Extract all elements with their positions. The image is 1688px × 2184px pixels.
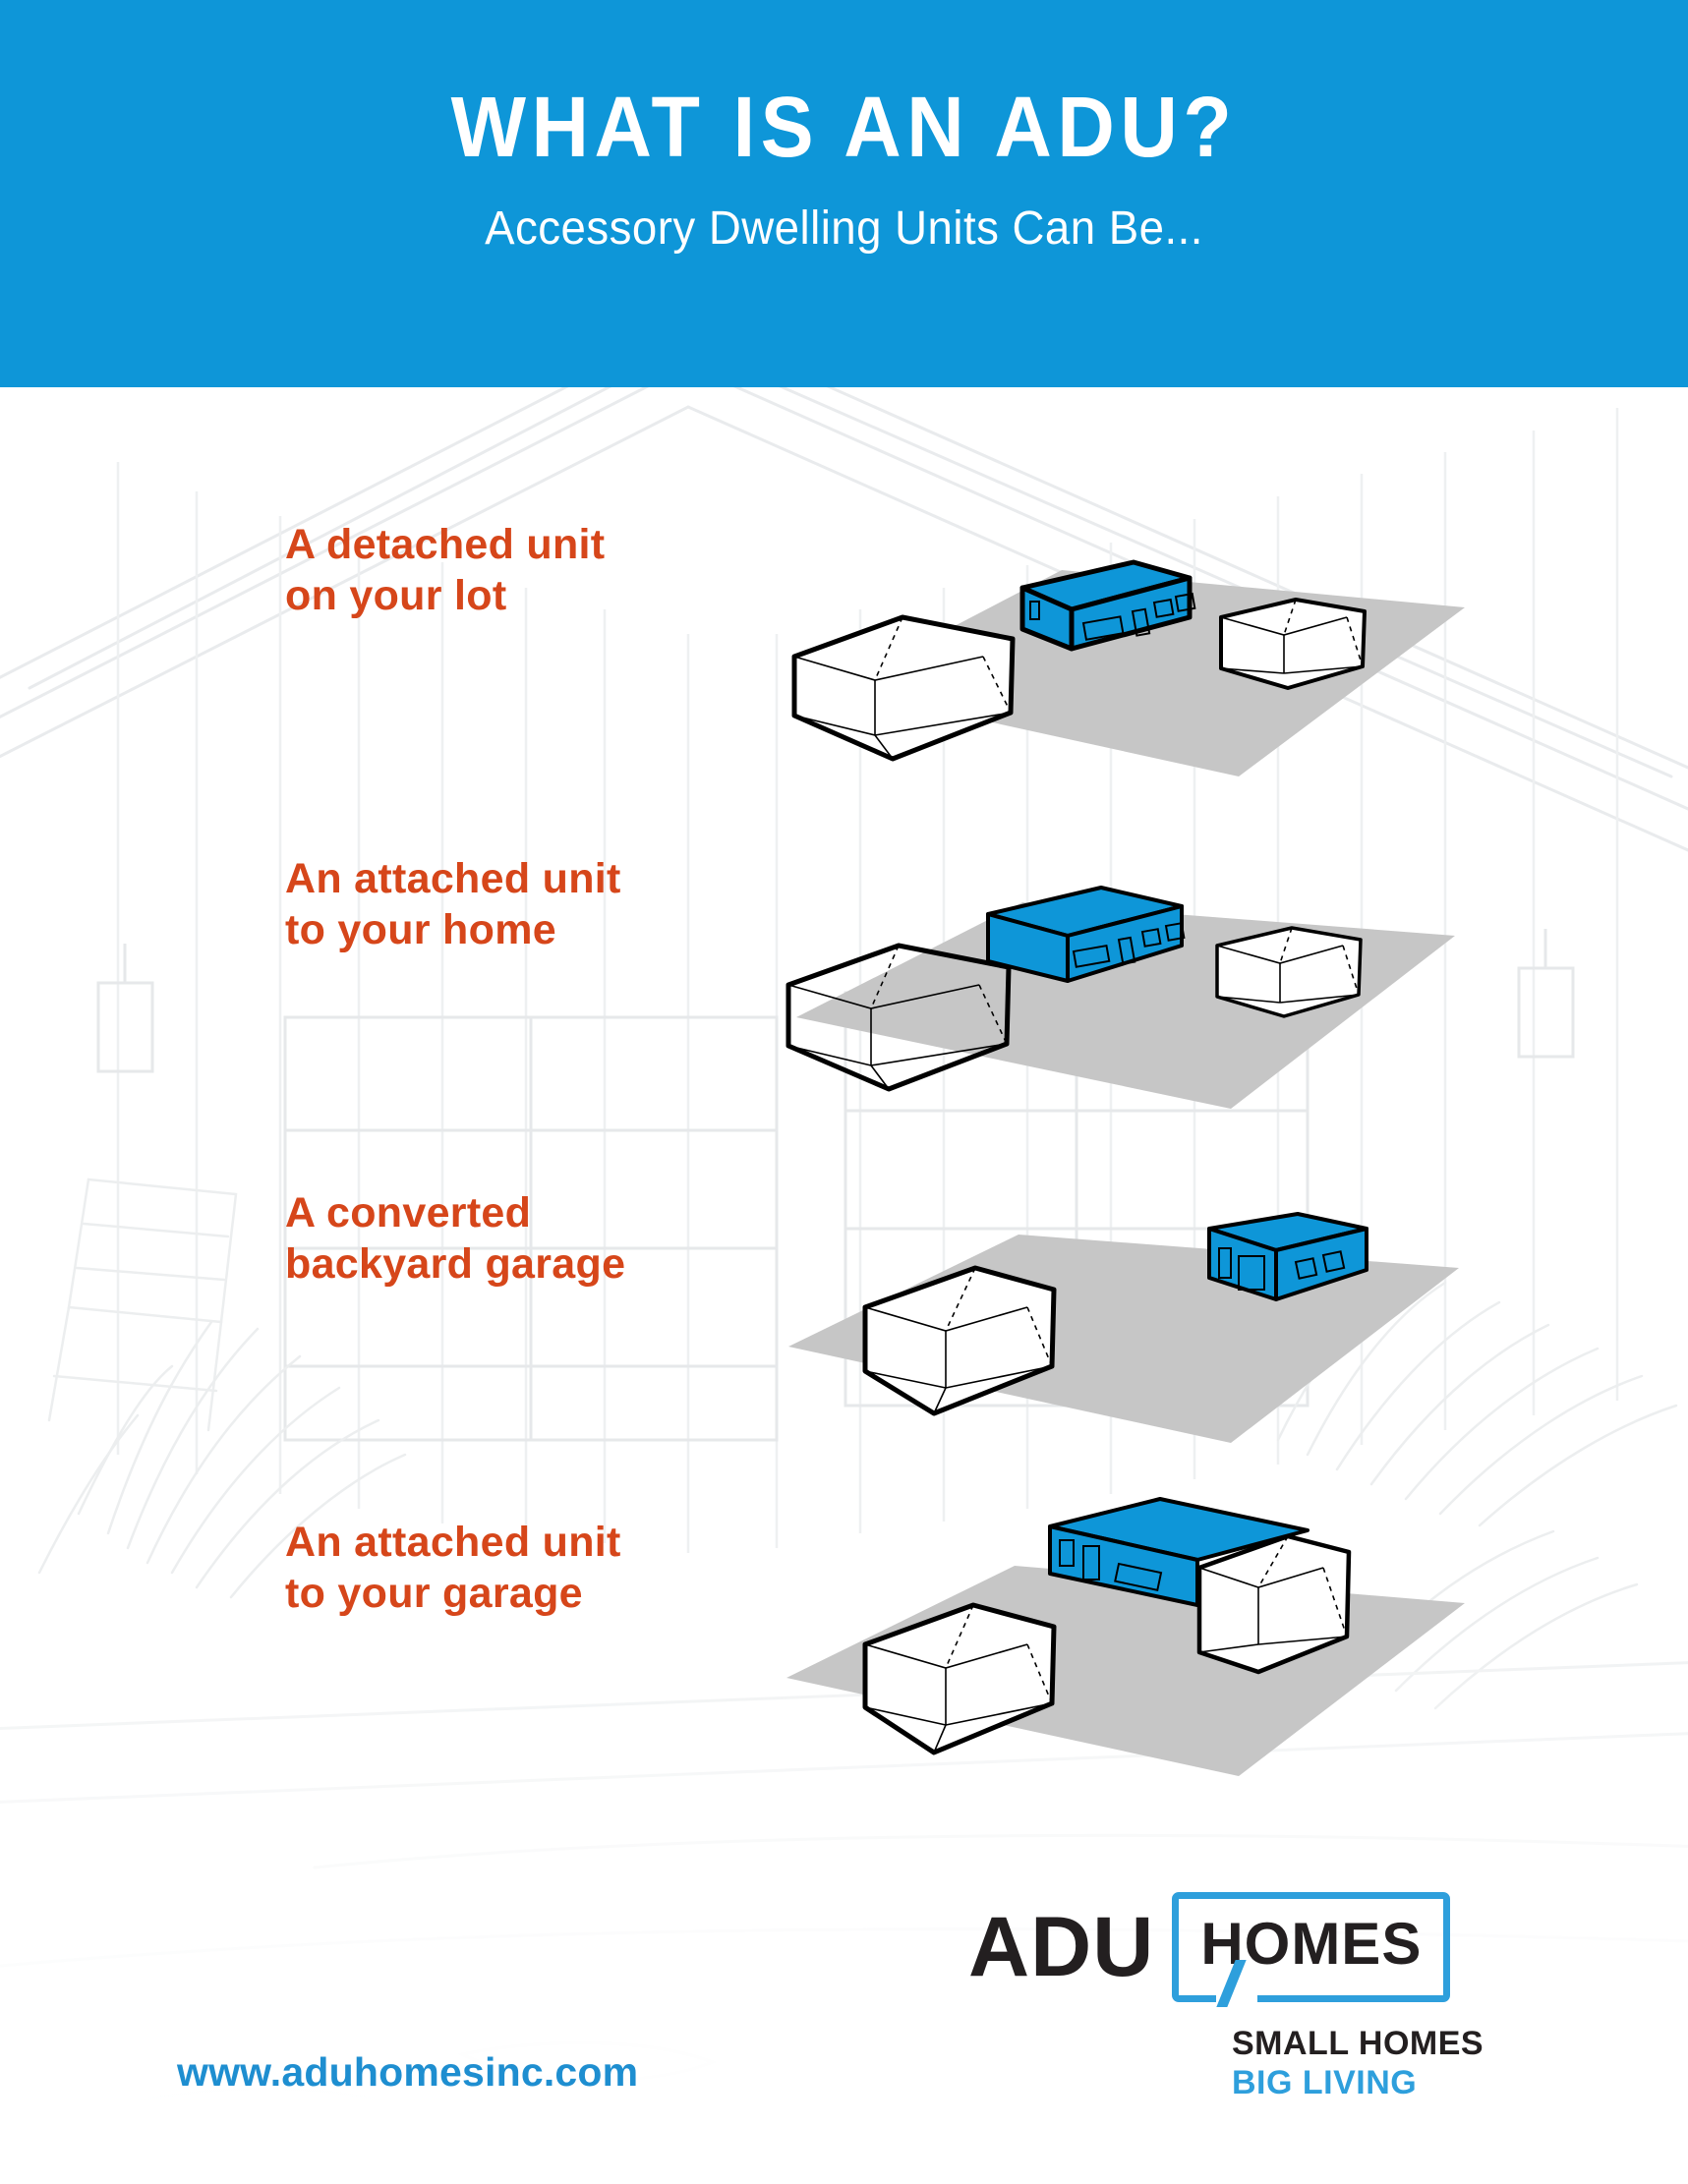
poster-root: WHAT IS AN ADU? Accessory Dwelling Units…: [0, 0, 1688, 2184]
logo-homes-box: HOMES: [1172, 1892, 1450, 2002]
section-label-line2: on your lot: [285, 570, 728, 621]
section-label-detached: A detached unit on your lot: [285, 519, 728, 622]
tagline-line-2: BIG LIVING: [1232, 2063, 1529, 2102]
website-url[interactable]: www.aduhomesinc.com: [177, 2049, 638, 2096]
tagline-line-1: SMALL HOMES: [1232, 2024, 1529, 2063]
section-attached-home: An attached unit to your home: [0, 826, 1688, 1140]
section-converted-garage: A converted backyard garage: [0, 1160, 1688, 1474]
section-label-line1: An attached unit: [285, 1519, 621, 1566]
page-subtitle: Accessory Dwelling Units Can Be...: [42, 203, 1646, 256]
section-label-attached-home: An attached unit to your home: [285, 853, 728, 956]
section-label-line1: An attached unit: [285, 855, 621, 902]
section-detached-unit: A detached unit on your lot: [0, 491, 1688, 806]
logo-brand-text: ADU: [968, 1905, 1154, 1989]
diagram-detached-unit: [777, 491, 1484, 806]
section-label-line2: to your home: [285, 904, 728, 955]
diagram-attached-garage: [777, 1489, 1484, 1804]
section-label-attached-garage: An attached unit to your garage: [285, 1517, 728, 1620]
section-label-line2: backyard garage: [285, 1238, 728, 1290]
diagram-converted-garage: [777, 1160, 1484, 1474]
section-attached-garage: An attached unit to your garage: [0, 1489, 1688, 1804]
logo-tagline: SMALL HOMES BIG LIVING: [1232, 2024, 1529, 2102]
brand-logo[interactable]: ADU HOMES SMALL HOMES BIG LIVING: [968, 1892, 1529, 2102]
logo-lockup: ADU HOMES: [968, 1892, 1529, 2002]
page-title: WHAT IS AN ADU?: [59, 85, 1629, 170]
header-banner: WHAT IS AN ADU? Accessory Dwelling Units…: [0, 0, 1688, 387]
diagram-attached-home: [777, 826, 1484, 1140]
section-label-converted-garage: A converted backyard garage: [285, 1187, 728, 1291]
section-label-line2: to your garage: [285, 1568, 728, 1619]
section-label-line1: A converted: [285, 1189, 531, 1236]
section-label-line1: A detached unit: [285, 521, 605, 568]
main-house: [794, 617, 1013, 759]
